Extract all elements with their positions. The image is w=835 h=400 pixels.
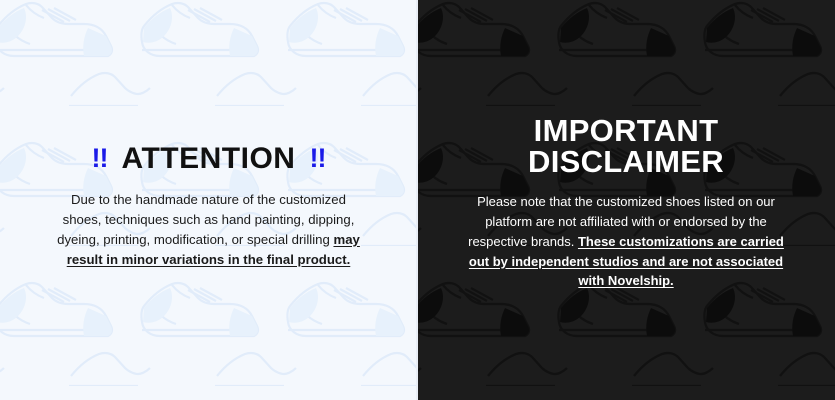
double-exclamation-left-icon: !!	[92, 145, 108, 172]
disclaimer-panel: IMPORTANT DISCLAIMER Please note that th…	[417, 0, 835, 400]
disclaimer-heading-line1: IMPORTANT	[528, 115, 724, 147]
attention-heading-text: ATTENTION	[122, 144, 296, 174]
disclaimer-panel-content: IMPORTANT DISCLAIMER Please note that th…	[417, 0, 835, 400]
disclaimer-heading-line2: DISCLAIMER	[528, 146, 724, 178]
attention-panel-content: !! ATTENTION !! Due to the handmade natu…	[0, 0, 417, 400]
panel-divider	[416, 0, 418, 400]
double-exclamation-right-icon: !!	[309, 145, 325, 172]
attention-body-normal: Due to the handmade nature of the custom…	[57, 192, 354, 247]
attention-panel: !! ATTENTION !! Due to the handmade natu…	[0, 0, 417, 400]
disclaimer-body-text: Please note that the customized shoes li…	[467, 192, 785, 291]
attention-body-text: Due to the handmade nature of the custom…	[54, 190, 364, 271]
customization-notice-banner: !! ATTENTION !! Due to the handmade natu…	[0, 0, 835, 400]
disclaimer-heading: IMPORTANT DISCLAIMER	[528, 115, 724, 178]
attention-heading: !! ATTENTION !!	[92, 144, 326, 174]
